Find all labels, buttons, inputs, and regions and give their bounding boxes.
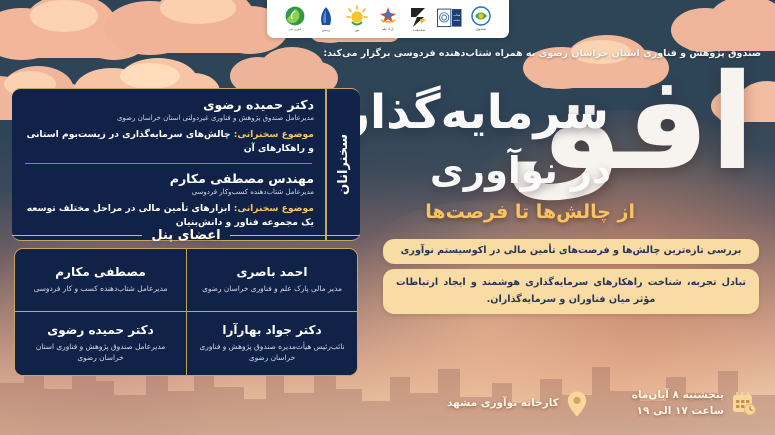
panel-heading-label: اعضای پنل	[151, 228, 220, 243]
svg-text:شتابدهنده: شتابدهنده	[412, 28, 425, 32]
title-subtitle: از چالش‌ها تا فرصت‌ها	[425, 201, 635, 223]
panel-members-grid: احمد باصری مدیر مالی پارک علم و فناوری خ…	[14, 248, 358, 376]
panel-member-cell: احمد باصری مدیر مالی پارک علم و فناوری خ…	[186, 249, 357, 312]
panel-member-name: مصطفی مکارم	[24, 265, 177, 280]
event-time-line: ساعت ۱۷ الی ۱۹	[637, 405, 724, 417]
event-datetime-text: پنجشنبه ۸ آبان‌ماه ساعت ۱۷ الی ۱۹	[632, 388, 724, 420]
map-pin-icon	[566, 390, 588, 418]
panel-member-cell: دکتر حمیده رضوی مدیرعامل صندوق پژوهش و ف…	[15, 312, 186, 375]
svg-text:فناوری سبز: فناوری سبز	[287, 28, 301, 31]
speakers-divider	[25, 163, 312, 164]
speaker-role: مدیرعامل صندوق پژوهش و فناوری غیردولتی ا…	[23, 114, 314, 124]
speaker-topic: موضوع سخنرانی: چالش‌های سرمایه‌گذاری در …	[23, 128, 314, 157]
logo-innovation-park: پارک علم	[375, 4, 400, 34]
calendar-clock-icon	[731, 391, 757, 417]
panel-member-role: مدیرعامل شتاب‌دهنده کسب و کار فردوسی	[24, 283, 177, 294]
speaker-topic-label: موضوع سخنرانی:	[234, 129, 314, 140]
description-box-2: تبادل تجربه، شناخت راهکارهای سرمایه‌گذار…	[383, 269, 759, 315]
speakers-tab-label: سخنرانان	[336, 134, 351, 195]
description-box-1: بررسی تازه‌ترین چالش‌ها و فرصت‌های تأمین…	[383, 239, 759, 264]
svg-text:شتاب: شتاب	[453, 12, 461, 16]
left-column: سخنرانان دکتر حمیده رضوی مدیرعامل صندوق …	[0, 0, 372, 435]
event-datetime: پنجشنبه ۸ آبان‌ماه ساعت ۱۷ الی ۱۹	[632, 388, 757, 420]
speakers-card: سخنرانان دکتر حمیده رضوی مدیرعامل صندوق …	[12, 88, 360, 241]
event-location-text: کارخانه نوآوری مشهد	[447, 396, 559, 412]
panel-member-cell: دکتر جواد بهارآرا نائب‌رئیس هیأت‌مدیره ص…	[186, 312, 357, 375]
event-location: کارخانه نوآوری مشهد	[447, 390, 588, 418]
panel-heading-line-right	[230, 235, 360, 236]
right-column: صندوق پژوهش و فناوری استان خراسان رضوی ب…	[367, 42, 775, 435]
svg-text:صندوق: صندوق	[476, 27, 486, 31]
sponsor-logo-bar: صندوق شتاب دهنده شتابدهنده	[267, 0, 509, 38]
panel-member-role: مدیرعامل صندوق پژوهش و فناوری استان خراس…	[24, 341, 177, 364]
event-poster: صندوق شتاب دهنده شتابدهنده	[0, 0, 775, 435]
panel-member-name: احمد باصری	[196, 265, 348, 280]
title-line-mid: در نوآوری	[430, 149, 611, 192]
speaker-entry: مهندس مصطفی مکارم مدیرعامل شتاب‌دهنده کس…	[23, 171, 314, 230]
speaker-entry: دکتر حمیده رضوی مدیرعامل صندوق پژوهش و ف…	[23, 97, 314, 156]
logo-pardis: پردیس	[313, 4, 338, 34]
logo-ferdowsi-accelerator: شتابدهنده	[406, 4, 431, 34]
event-meta-bar: پنجشنبه ۸ آبان‌ماه ساعت ۱۷ الی ۱۹ کارخان…	[367, 373, 775, 435]
panel-member-name: دکتر حمیده رضوی	[24, 323, 177, 338]
event-date-line: پنجشنبه ۸ آبان‌ماه	[632, 389, 724, 401]
svg-text:مهر: مهر	[353, 28, 359, 32]
panel-heading: اعضای پنل	[12, 228, 360, 243]
logo-green-tech: فناوری سبز	[282, 4, 307, 34]
speakers-body: دکتر حمیده رضوی مدیرعامل صندوق پژوهش و ف…	[12, 88, 326, 241]
logo-khorasan-fund: صندوق	[468, 4, 493, 34]
speakers-tab: سخنرانان	[326, 88, 360, 241]
svg-text:دهنده: دهنده	[453, 17, 460, 21]
logo-sun-mehr: مهر	[344, 4, 369, 34]
speaker-name: دکتر حمیده رضوی	[23, 97, 314, 112]
speaker-role: مدیرعامل شتاب‌دهنده کسب‌وکار فردوسی	[23, 188, 314, 198]
panel-member-role: مدیر مالی پارک علم و فناوری خراسان رضوی	[196, 283, 348, 294]
svg-text:پردیس: پردیس	[321, 28, 330, 32]
title-block: افق سرمایه‌گذاری در نوآوری از چالش‌ها تا…	[381, 61, 761, 239]
panel-member-role: نائب‌رئیس هیأت‌مدیره صندوق پژوهش و فناور…	[196, 341, 348, 364]
panel-member-cell: مصطفی مکارم مدیرعامل شتاب‌دهنده کسب و کا…	[15, 249, 186, 312]
speaker-topic: موضوع سخنرانی: ابزارهای تأمین مالی در مر…	[23, 202, 314, 231]
panel-heading-line-left	[12, 235, 142, 236]
speaker-topic-label: موضوع سخنرانی:	[234, 203, 314, 214]
panel-member-name: دکتر جواد بهارآرا	[196, 323, 348, 338]
svg-text:پارک علم: پارک علم	[382, 27, 394, 31]
logo-shenakht: شتاب دهنده	[437, 4, 462, 34]
speaker-name: مهندس مصطفی مکارم	[23, 171, 314, 186]
